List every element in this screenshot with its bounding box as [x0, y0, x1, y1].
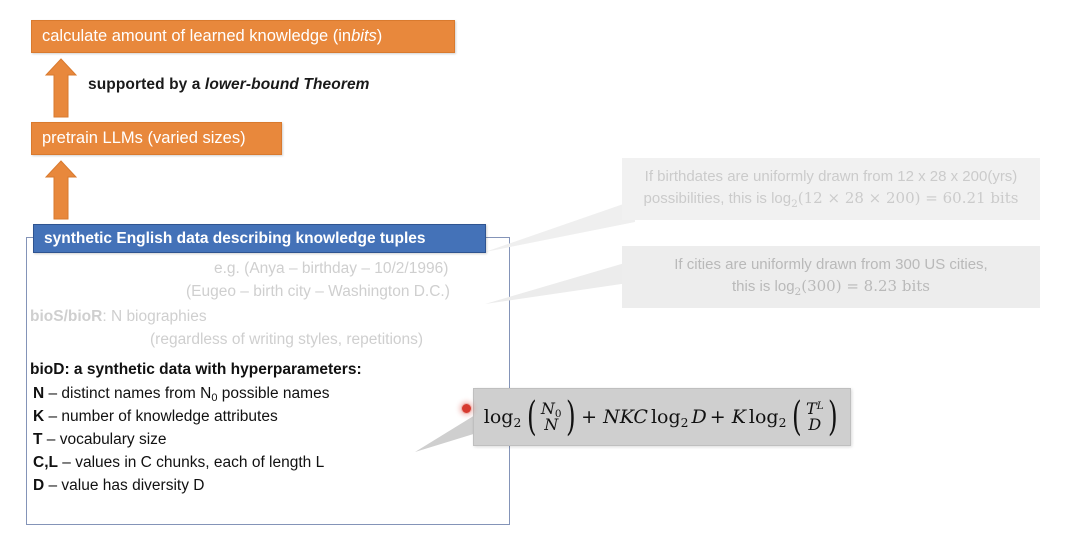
pretrain-llms-box: pretrain LLMs (varied sizes) [31, 122, 282, 155]
formula-var-D: D [692, 406, 707, 428]
formula-binom1-stack: N0 N [540, 401, 563, 434]
biod-rest: : a synthetic data with hyperparameters: [64, 361, 361, 378]
pretrain-llms-label: pretrain LLMs (varied sizes) [42, 130, 246, 147]
example-line-2: (Eugeo – birth city – Washington D.C.) [186, 283, 450, 301]
formula-term-middle: + NKC [581, 406, 648, 428]
hyperparameter-desc-N-after: possible names [217, 385, 329, 402]
hyperparameter-desc-K: – number of knowledge attributes [44, 408, 278, 425]
bios-bior-rest: : N biographies [102, 308, 206, 325]
hyperparameter-desc-T: – vocabulary size [42, 431, 166, 448]
callout-tail-cities [485, 258, 635, 308]
calculate-knowledge-box: calculate amount of learned knowledge (i… [31, 20, 455, 53]
formula-binomial-2: ( TL D ) [789, 401, 840, 434]
callout-birthdates-line2: possibilities, this is log2(12 × 28 × 20… [644, 188, 1019, 212]
bios-bior-subnote: (regardless of writing styles, repetitio… [150, 331, 423, 349]
callout-birthdates-text: If birthdates are uniformly drawn from 1… [644, 166, 1019, 212]
callout-birthdates: If birthdates are uniformly drawn from 1… [622, 158, 1040, 220]
callout-cities-text: If cities are uniformly drawn from 300 U… [674, 254, 987, 300]
hyperparameter-symbol-D: D [33, 477, 44, 494]
callout-birthdates-line2-after: (12 × 28 × 200) = 60.21 bits [798, 189, 1019, 207]
calculate-knowledge-label-after: ) [377, 28, 383, 45]
callout-formula: log2 ( N0 N ) + NKC log2 D + K log2 ( TL… [473, 388, 851, 446]
callout-tail-birthdates [485, 200, 635, 255]
calculate-knowledge-label-italic: bits [351, 28, 377, 45]
red-dot-marker-icon [461, 403, 472, 414]
example-line-1: e.g. (Anya – birthday – 10/2/1996) [214, 260, 448, 278]
formula-log1: log2 [484, 406, 522, 428]
hyperparameter-row-T: T – vocabulary size [33, 431, 167, 449]
callout-cities-line2-before: this is log [732, 278, 795, 295]
lower-bound-theorem-text: lower-bound Theorem [205, 76, 370, 93]
callout-birthdates-log-sub: 2 [791, 189, 798, 207]
hyperparameter-row-D: D – value has diversity D [33, 477, 204, 495]
callout-cities-line1: If cities are uniformly drawn from 300 U… [674, 254, 987, 276]
biod-title-line: bioD: a synthetic data with hyperparamet… [30, 361, 362, 379]
formula-log2: log2 [651, 406, 689, 428]
formula-binom2-stack: TL D [805, 401, 825, 434]
hyperparameter-row-CL: C,L – values in C chunks, each of length… [33, 454, 324, 472]
callout-cities-line2-after: (300) = 8.23 bits [801, 277, 930, 295]
hyperparameter-symbol-K: K [33, 408, 44, 425]
formula-log3: log2 [749, 406, 787, 428]
synthetic-data-header-box: synthetic English data describing knowle… [33, 224, 486, 253]
hyperparameter-symbol-CL: C,L [33, 454, 58, 471]
hyperparameter-desc-D: – value has diversity D [44, 477, 204, 494]
hyperparameter-desc-CL: – values in C chunks, each of length L [58, 454, 324, 471]
arrow-up-icon-2 [45, 160, 77, 220]
calculate-knowledge-label-before: calculate amount of learned knowledge (i… [42, 28, 351, 45]
hyperparameter-symbol-N: N [33, 385, 44, 402]
callout-cities: If cities are uniformly drawn from 300 U… [622, 246, 1040, 308]
biod-label: bioD [30, 361, 64, 378]
diagram-canvas: calculate amount of learned knowledge (i… [0, 0, 1080, 557]
hyperparameter-row-N: N – distinct names from N0 possible name… [33, 385, 329, 403]
formula-binomial-1: ( N0 N ) [524, 401, 578, 434]
bios-bior-label: bioS/bioR [30, 308, 102, 325]
callout-birthdates-line2-before: possibilities, this is log [644, 190, 792, 207]
arrow-up-icon-1 [45, 58, 77, 118]
formula-term-plus-K: + K [710, 406, 746, 428]
callout-birthdates-line1: If birthdates are uniformly drawn from 1… [644, 166, 1019, 188]
formula-expression: log2 ( N0 N ) + NKC log2 D + K log2 ( TL… [484, 401, 840, 434]
supported-by-text: supported by a [88, 76, 205, 93]
hyperparameter-desc-N-before: – distinct names from N [44, 385, 211, 402]
synthetic-data-header-label: synthetic English data describing knowle… [44, 230, 426, 248]
hyperparameter-row-K: K – number of knowledge attributes [33, 408, 278, 426]
callout-cities-line2: this is log2(300) = 8.23 bits [674, 276, 987, 300]
supported-by-theorem-label: supported by a lower-bound Theorem [88, 76, 370, 94]
bios-bior-line: bioS/bioR: N biographies [30, 308, 207, 326]
formula-binom2-bottom: D [808, 417, 821, 433]
hyperparameter-desc-N-sub: 0 [211, 392, 217, 404]
